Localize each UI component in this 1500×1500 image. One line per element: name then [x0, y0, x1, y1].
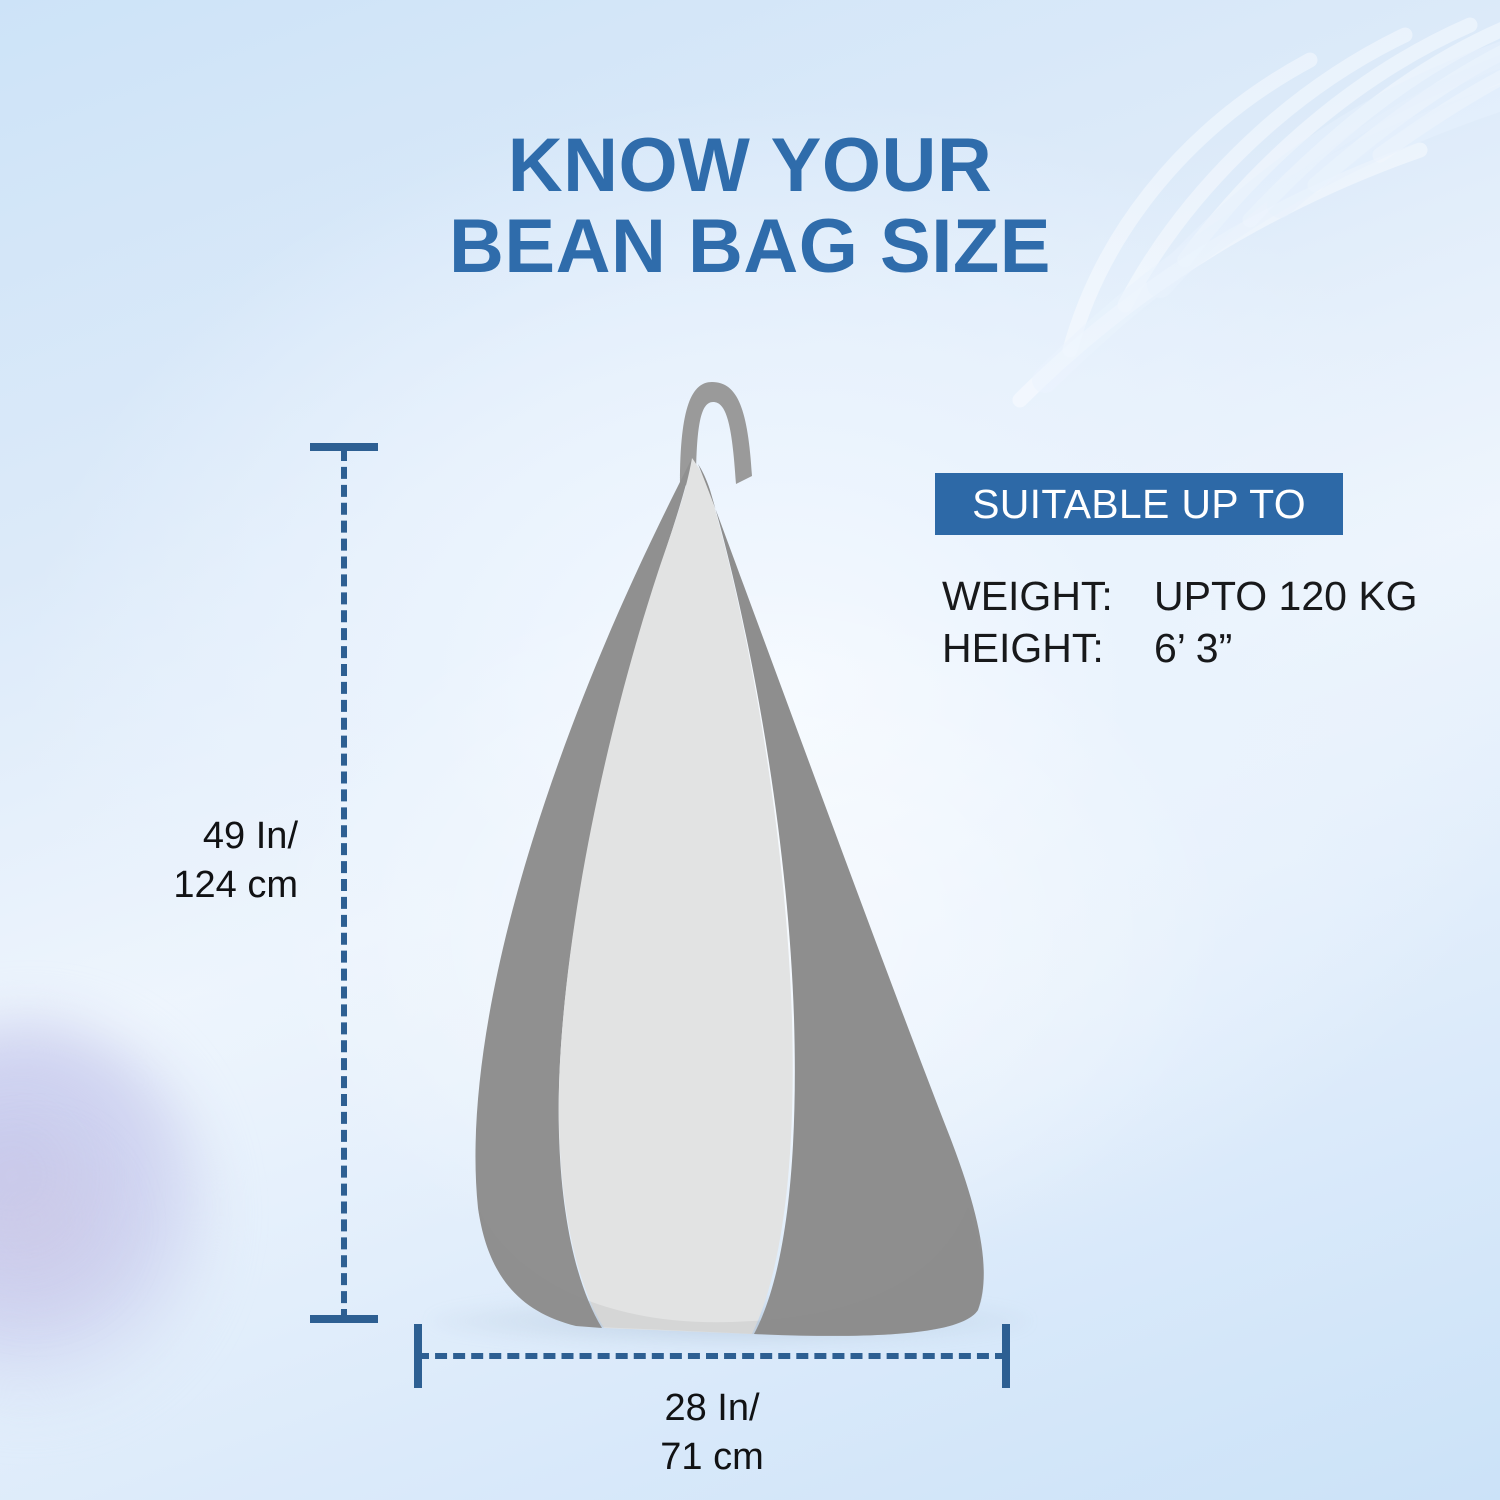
suitable-up-to-badge: SUITABLE UP TO — [935, 473, 1343, 535]
spec-row-height: HEIGHT: 6’ 3” — [942, 622, 1462, 674]
infographic-canvas: KNOW YOUR BEAN BAG SIZE 49 In/ 124 cm 28… — [0, 0, 1500, 1500]
height-dimension-line — [341, 449, 347, 1321]
width-label-cm: 71 cm — [530, 1433, 894, 1482]
spec-key-weight: WEIGHT: — [942, 570, 1154, 622]
height-dimension-cap-top — [310, 443, 378, 451]
height-label-inches: 49 In/ — [128, 812, 298, 861]
title-line-1: KNOW YOUR — [0, 126, 1500, 207]
spec-key-height: HEIGHT: — [942, 622, 1154, 674]
width-dimension-label: 28 In/ 71 cm — [530, 1384, 894, 1481]
specs-list: WEIGHT: UPTO 120 KG HEIGHT: 6’ 3” — [942, 570, 1462, 675]
width-dimension-cap-left — [414, 1324, 422, 1388]
spec-value-height: 6’ 3” — [1154, 622, 1232, 674]
center-light-panel — [559, 458, 793, 1334]
spec-row-weight: WEIGHT: UPTO 120 KG — [942, 570, 1462, 622]
width-dimension-cap-right — [1002, 1324, 1010, 1388]
width-label-inches: 28 In/ — [530, 1384, 894, 1433]
page-title: KNOW YOUR BEAN BAG SIZE — [0, 126, 1500, 287]
height-dimension-cap-bottom — [310, 1315, 378, 1323]
title-line-2: BEAN BAG SIZE — [0, 207, 1500, 288]
spec-value-weight: UPTO 120 KG — [1154, 570, 1418, 622]
suitable-up-to-label: SUITABLE UP TO — [972, 481, 1306, 528]
height-dimension-label: 49 In/ 124 cm — [128, 812, 298, 909]
height-label-cm: 124 cm — [128, 861, 298, 910]
width-dimension-line — [417, 1353, 1007, 1359]
